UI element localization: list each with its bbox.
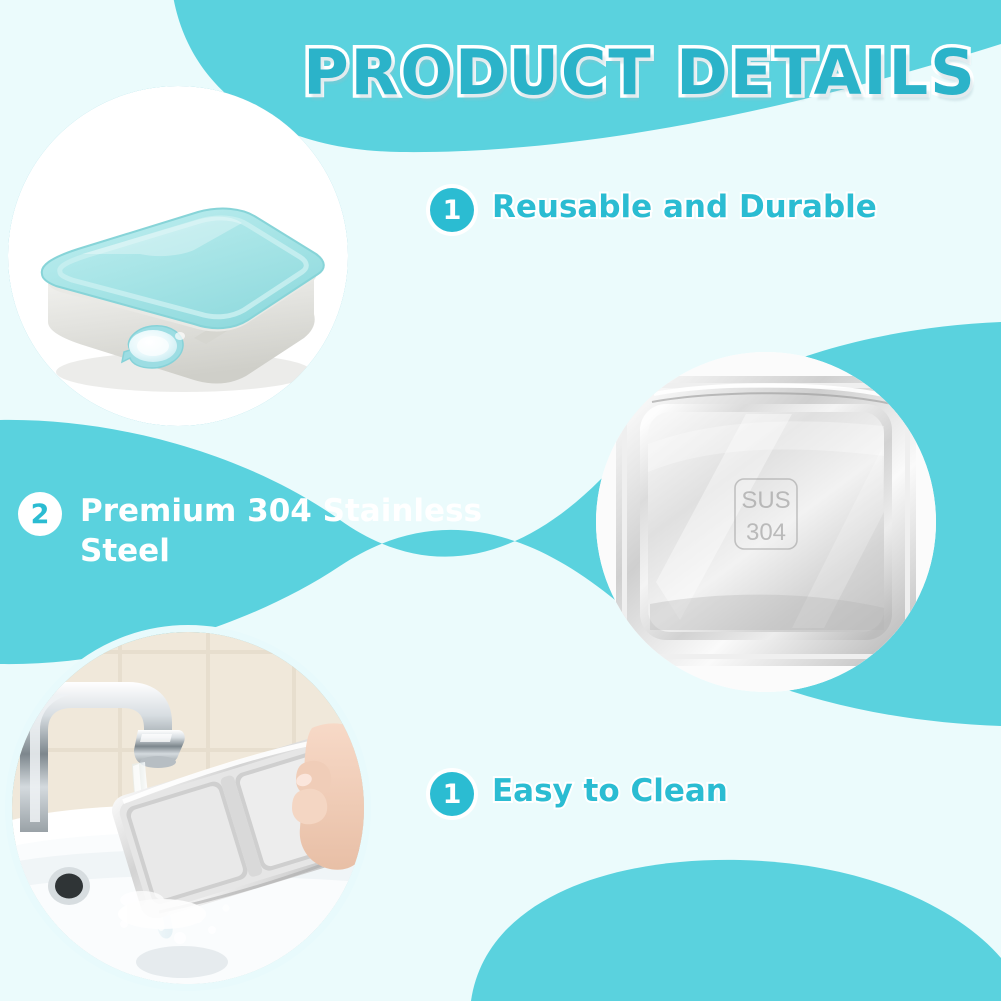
svg-text:SUS: SUS (741, 487, 790, 514)
sink-rinsing-illustration (12, 632, 364, 984)
photo-rinsing-container-in-sink (12, 632, 364, 984)
page-title: PRODUCT DETAILS (300, 36, 980, 109)
feature-label-2: Premium 304 Stainless Steel (80, 492, 550, 571)
svg-text:304: 304 (746, 519, 786, 546)
feature-badge-2: 2 (18, 492, 62, 536)
feature-badge-3: 1 (430, 772, 474, 816)
photo-lunch-box-with-teal-silicone-lid (8, 86, 348, 426)
photo-square-stainless-container-top-view: SUS 304 (596, 352, 936, 692)
product-details-infographic: PRODUCT DETAILS (0, 0, 1001, 1001)
feature-row-1: 1 Reusable and Durable (430, 188, 877, 232)
lunch-box-illustration (8, 86, 348, 426)
feature-label-1: Reusable and Durable (492, 188, 877, 228)
feature-badge-1: 1 (430, 188, 474, 232)
stainless-container-illustration: SUS 304 (596, 352, 936, 692)
feature-row-2: 2 Premium 304 Stainless Steel (18, 492, 550, 571)
feature-row-3: 1 Easy to Clean (430, 772, 728, 816)
feature-label-3: Easy to Clean (492, 772, 728, 812)
